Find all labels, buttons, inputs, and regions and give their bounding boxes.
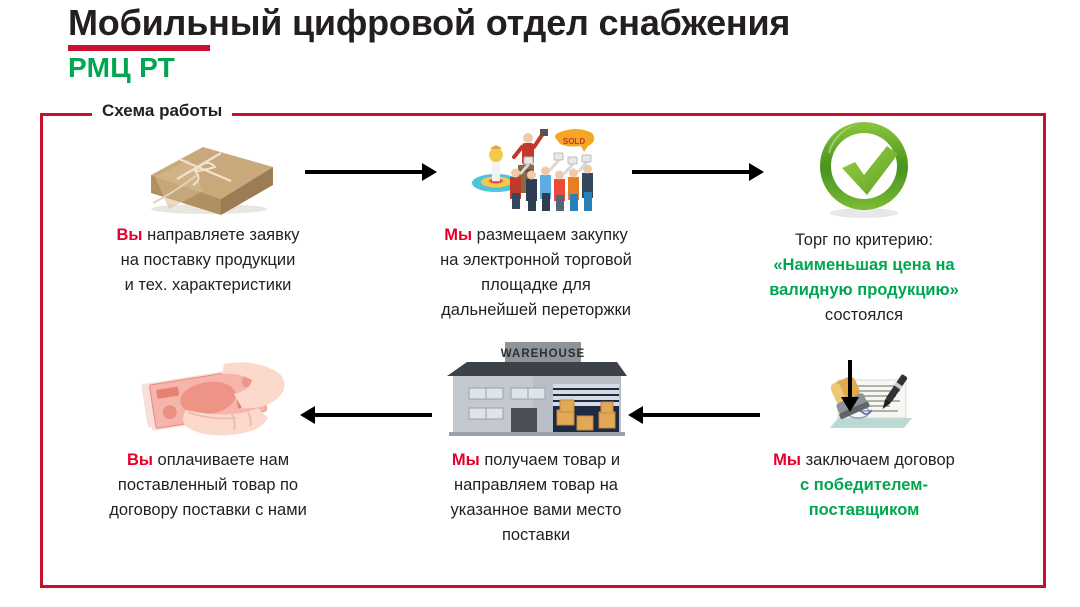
step-6-caption-line-2: поставленный товар по xyxy=(54,473,362,498)
step-1-caption: Вы направляете заявкуна поставку продукц… xyxy=(48,223,368,298)
arrow-shaft xyxy=(641,413,760,417)
step-2-caption-line-3: площадке для xyxy=(382,273,690,298)
step-4-caption-line-2: с победителем- xyxy=(710,473,1018,498)
step-3-caption: Торг по критерию:«Наименьшая цена навали… xyxy=(704,228,1024,328)
step-2-caption-line-4: дальнейшей переторжки xyxy=(382,298,690,323)
header: Мобильный цифровой отдел снабжения РМЦ Р… xyxy=(68,2,1028,84)
step-3-caption-line-1: Торг по критерию: xyxy=(710,228,1018,253)
step-4-artwork xyxy=(704,345,1024,440)
step-6-caption-line-3: договору поставки с нами xyxy=(54,498,362,523)
arrow-shaft xyxy=(305,170,424,174)
step-5-caption-line-1: Мы получаем товар и xyxy=(382,448,690,473)
step-5: WAREHOUSE xyxy=(376,345,696,548)
step-6-artwork xyxy=(48,345,368,440)
arrow-head xyxy=(841,397,859,412)
page-title: Мобильный цифровой отдел снабжения xyxy=(68,2,1028,44)
parcel-package-icon xyxy=(133,123,283,215)
step-3-caption-line-4: состоялся xyxy=(710,303,1018,328)
auction-crowd-icon: SOLD xyxy=(466,127,606,215)
arrow-step1-to-step2 xyxy=(305,163,437,181)
step-2-caption-line-2: на электронной торговой xyxy=(382,248,690,273)
step-3-caption-line-2: «Наименьшая цена на xyxy=(710,253,1018,278)
steps-row-top: Вы направляете заявкуна поставку продукц… xyxy=(42,120,1042,335)
green-check-circle-icon xyxy=(812,116,916,220)
step-4-caption-line-1: Мы заключаем договор xyxy=(710,448,1018,473)
step-5-artwork: WAREHOUSE xyxy=(376,345,696,440)
arrow-head xyxy=(300,406,315,424)
arrow-shaft xyxy=(848,360,852,399)
arrow-head xyxy=(749,163,764,181)
page-subtitle: РМЦ РТ xyxy=(68,52,1028,84)
slide-root: Мобильный цифровой отдел снабжения РМЦ Р… xyxy=(0,0,1080,607)
step-2-caption-line-1: Мы размещаем закупку xyxy=(382,223,690,248)
arrow-head xyxy=(628,406,643,424)
step-4-caption-line-3: поставщиком xyxy=(710,498,1018,523)
step-2: SOLD Мы размещаем закупкуна электронной … xyxy=(376,120,696,323)
hand-holding-money-icon xyxy=(128,348,288,440)
panel-legend: Схема работы xyxy=(92,101,232,121)
step-5-caption-line-3: указанное вами место xyxy=(382,498,690,523)
arrow-step4-to-step5 xyxy=(628,406,760,424)
arrow-shaft xyxy=(632,170,751,174)
warehouse-building-icon: WAREHOUSE xyxy=(441,340,631,440)
step-4: Мы заключаем договорс победителем-постав… xyxy=(704,345,1024,523)
step-6-caption-line-1: Вы оплачиваете нам xyxy=(54,448,362,473)
step-5-caption-line-2: направляем товар на xyxy=(382,473,690,498)
svg-text:SOLD: SOLD xyxy=(563,137,585,146)
step-1-caption-line-2: на поставку продукции xyxy=(54,248,362,273)
step-4-caption: Мы заключаем договорс победителем-постав… xyxy=(704,448,1024,523)
step-6-caption: Вы оплачиваете нампоставленный товар под… xyxy=(48,448,368,523)
step-3: Торг по критерию:«Наименьшая цена навали… xyxy=(704,120,1024,328)
arrow-head xyxy=(422,163,437,181)
arrow-step2-to-step3 xyxy=(632,163,764,181)
title-underline-rule xyxy=(68,45,210,51)
step-1-caption-line-1: Вы направляете заявку xyxy=(54,223,362,248)
arrow-step3-to-step4 xyxy=(841,360,859,412)
arrow-step5-to-step6 xyxy=(300,406,432,424)
step-1: Вы направляете заявкуна поставку продукц… xyxy=(48,120,368,298)
step-5-caption-line-4: поставки xyxy=(382,523,690,548)
arrow-shaft xyxy=(313,413,432,417)
contract-stamp-pen-icon xyxy=(804,368,924,440)
steps-row-bottom: Вы оплачиваете нампоставленный товар под… xyxy=(42,345,1042,585)
step-5-caption: Мы получаем товар инаправляем товар наук… xyxy=(376,448,696,548)
step-6: Вы оплачиваете нампоставленный товар под… xyxy=(48,345,368,523)
warehouse-sign-label: WAREHOUSE xyxy=(501,348,585,360)
step-1-caption-line-3: и тех. характеристики xyxy=(54,273,362,298)
step-2-caption: Мы размещаем закупкуна электронной торго… xyxy=(376,223,696,323)
step-3-caption-line-3: валидную продукцию» xyxy=(710,278,1018,303)
